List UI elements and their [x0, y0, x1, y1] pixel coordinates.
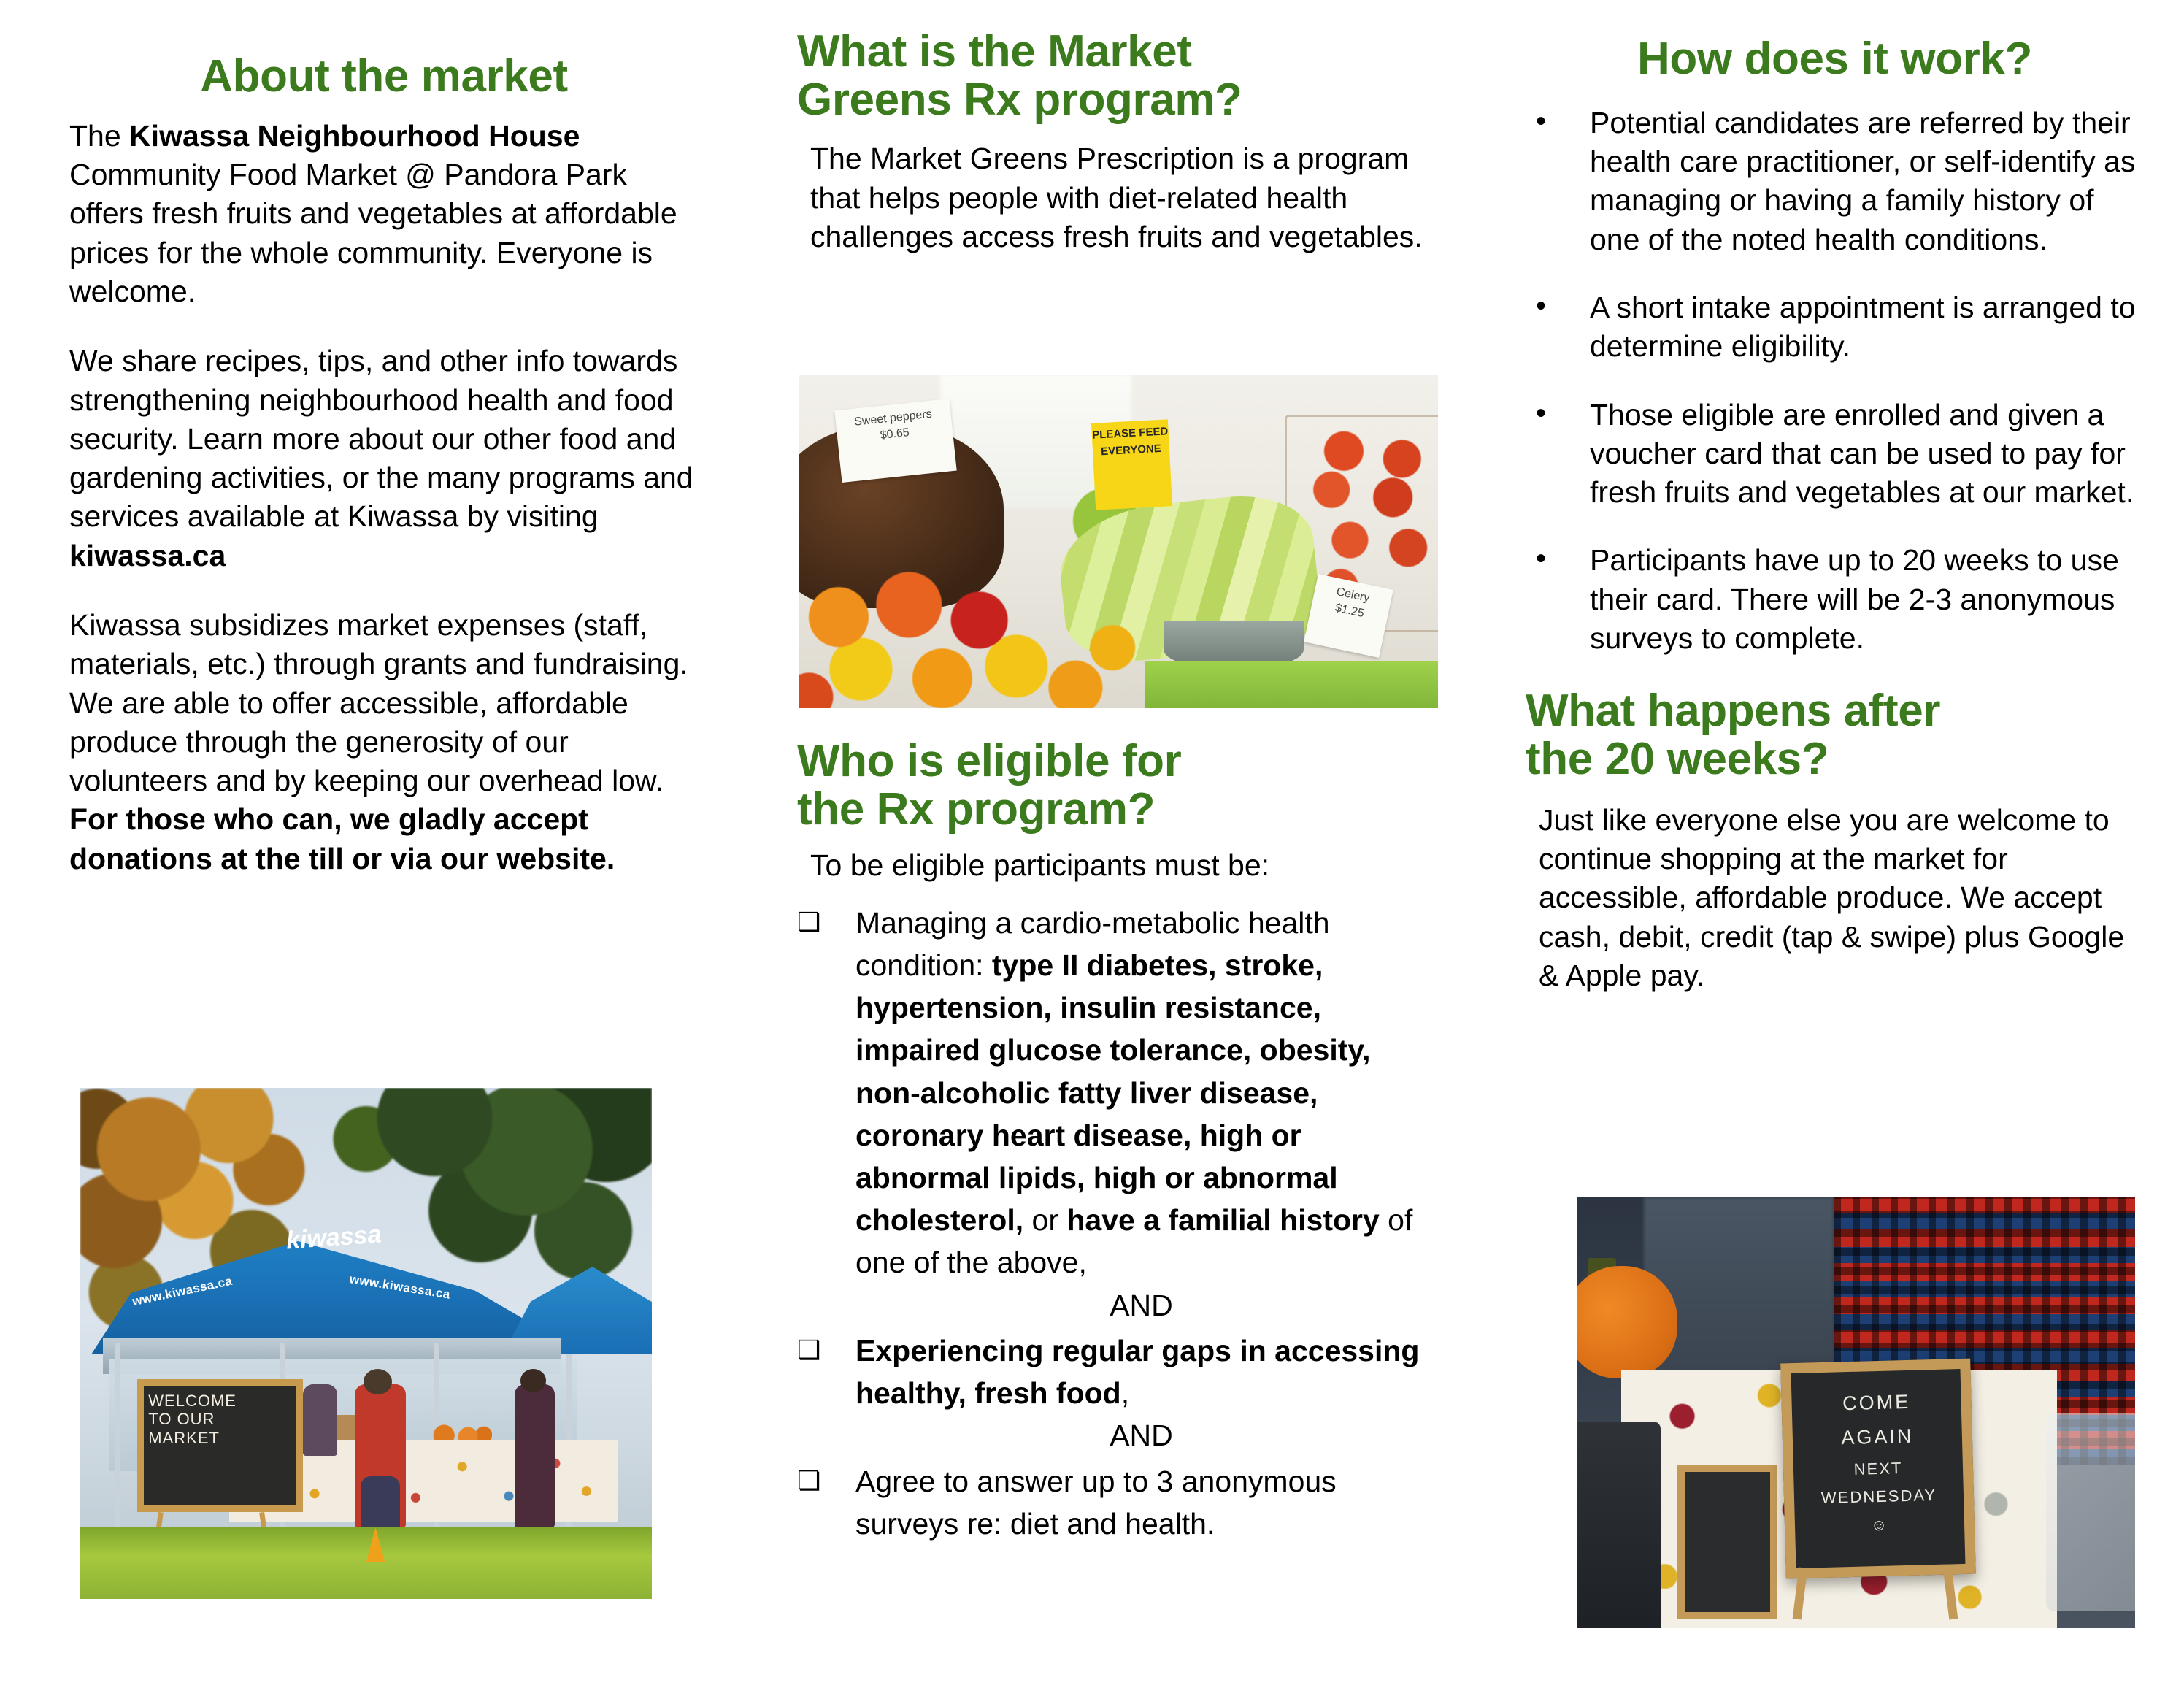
eligibility-item-1-text-b: or: [1023, 1203, 1066, 1237]
section-title-what-is-market-greens: What is the Market Greens Rx program?: [797, 28, 1427, 123]
eligibility-item: ❏ Agree to answer up to 3 anonymous surv…: [797, 1460, 1427, 1545]
eligibility-connector-and: AND: [855, 1284, 1427, 1327]
price-sign-peppers-label: Sweet peppers: [853, 408, 932, 429]
bullet-icon: •: [1536, 540, 1546, 578]
about-paragraph-1-prefix: The: [69, 119, 129, 153]
eligibility-item-3-text: Agree to answer up to 3 anonymous survey…: [855, 1465, 1337, 1541]
after-heading-line-1: What happens after: [1526, 686, 1940, 736]
chalkboard-easel-legs: [1789, 1568, 1968, 1619]
how-it-works-step-text: Potential candidates are referred by the…: [1590, 106, 2136, 256]
welcome-chalkboard-sign: WELCOME TO OUR MARKET: [137, 1379, 303, 1512]
after-paragraph: Just like everyone else you are welcome …: [1539, 801, 2144, 995]
how-it-works-step-text: Those eligible are enrolled and given a …: [1590, 398, 2134, 510]
eligibility-connector-and: AND: [855, 1414, 1427, 1457]
eligibility-item-2-comma: ,: [1121, 1376, 1129, 1410]
price-sign-sweet-peppers: Sweet peppers $0.65: [834, 399, 956, 483]
come-again-line-1: COME: [1791, 1384, 1961, 1422]
yellow-sign-line-3: EVERYONE: [1100, 442, 1161, 457]
eligible-heading-line-2: the Rx program?: [797, 784, 1155, 835]
photo-come-again-sign: COME AGAIN NEXT WEDNESDAY ☺: [1577, 1197, 2135, 1628]
checkbox-icon[interactable]: ❏: [797, 1331, 820, 1368]
section-title-how-does-it-work: How does it work?: [1526, 35, 2144, 83]
yellow-sign-line-1: PLEASE: [1091, 427, 1136, 442]
welcome-chalkboard-line-3: MARKET: [148, 1429, 292, 1447]
after-heading-line-2: the 20 weeks?: [1526, 734, 1829, 784]
greens-foreground: [1145, 661, 1439, 708]
shopper-puffy-jacket: [1577, 1422, 1661, 1628]
eligibility-item-1-familial: have a familial history: [1066, 1203, 1379, 1237]
secondary-chalkboard: [1677, 1465, 1778, 1619]
about-paragraph-1-rest: Community Food Market @ Pandora Park off…: [69, 158, 677, 308]
eligibility-item: ❏ Experiencing regular gaps in accessing…: [797, 1330, 1427, 1457]
what-is-heading-line-1: What is the Market: [797, 26, 1192, 77]
about-paragraph-3: Kiwassa subsidizes market expenses (staf…: [69, 606, 699, 878]
kiwassa-logo-text: kiwassa: [285, 1220, 382, 1255]
come-again-chalkboard: COME AGAIN NEXT WEDNESDAY ☺: [1780, 1359, 1976, 1579]
bell-peppers-pile: [799, 568, 1157, 708]
about-paragraph-3-text: Kiwassa subsidizes market expenses (staf…: [69, 608, 688, 797]
shopper-head: [364, 1369, 392, 1394]
yellow-sign-line-2: FEED: [1138, 425, 1168, 439]
donations-callout: For those who can, we gladly accept dona…: [69, 802, 615, 875]
price-sign-celery-price: $1.25: [1334, 602, 1366, 620]
how-it-works-step: • Participants have up to 20 weeks to us…: [1526, 541, 2144, 658]
shopper-head: [520, 1369, 546, 1392]
smiley-face-icon: ☺: [1795, 1509, 1965, 1542]
photo-produce-display: PLEASE FEED EVERYONE Sweet peppers $0.65…: [799, 375, 1438, 708]
checkbox-icon[interactable]: ❏: [797, 903, 820, 940]
how-it-works-step: • A short intake appointment is arranged…: [1526, 288, 2144, 367]
section-title-who-is-eligible: Who is eligible for the Rx program?: [797, 737, 1427, 833]
yellow-feed-sign: PLEASE FEED EVERYONE: [1091, 419, 1172, 510]
page-title-about-the-market: About the market: [69, 53, 699, 101]
about-paragraph-1-org-name: Kiwassa Neighbourhood House: [129, 119, 580, 153]
eligible-heading-line-1: Who is eligible for: [797, 736, 1181, 786]
pumpkin: [1577, 1266, 1677, 1378]
what-is-heading-line-2: Greens Rx program?: [797, 74, 1242, 125]
eligibility-item: ❏ Managing a cardio-metabolic health con…: [797, 902, 1427, 1327]
welcome-chalkboard-line-2: TO OUR: [148, 1410, 292, 1428]
shopper-dark-coat: [515, 1384, 555, 1527]
checkbox-icon[interactable]: ❏: [797, 1462, 820, 1499]
how-it-works-step-text: Participants have up to 20 weeks to use …: [1590, 543, 2119, 655]
photo-market-tent: kiwassa www.kiwassa.ca www.kiwassa.ca WE…: [80, 1088, 652, 1599]
what-is-paragraph: The Market Greens Prescription is a prog…: [810, 139, 1427, 256]
come-again-line-3: NEXT: [1793, 1453, 1964, 1486]
bullet-icon: •: [1536, 394, 1546, 432]
come-again-line-4: WEDNESDAY: [1794, 1481, 1964, 1514]
tent-leg: [115, 1343, 120, 1548]
bullet-icon: •: [1536, 102, 1546, 140]
bullet-icon: •: [1536, 287, 1546, 325]
volunteer-behind-table: [303, 1384, 337, 1456]
eligibility-item-2-text: Experiencing regular gaps in accessing h…: [855, 1334, 1419, 1410]
about-paragraph-1: The Kiwassa Neighbourhood House Communit…: [69, 117, 699, 311]
about-paragraph-2: We share recipes, tips, and other info t…: [69, 342, 699, 575]
eligibility-item-1-conditions: type II diabetes, stroke, hypertension, …: [855, 948, 1371, 1237]
how-it-works-steps: • Potential candidates are referred by t…: [1526, 104, 2144, 659]
brochure-page: About the market The Kiwassa Neighbourho…: [0, 0, 2184, 1688]
about-paragraph-2-text: We share recipes, tips, and other info t…: [69, 344, 693, 533]
grass-foreground: [80, 1527, 652, 1599]
eligibility-checklist: ❏ Managing a cardio-metabolic health con…: [797, 902, 1427, 1545]
column-eligibility: Who is eligible for the Rx program? To b…: [728, 737, 1456, 1688]
welcome-chalkboard-line-1: WELCOME: [148, 1392, 292, 1410]
come-again-line-2: AGAIN: [1792, 1418, 1962, 1457]
section-title-what-happens-after: What happens after the 20 weeks?: [1526, 687, 2144, 783]
eligibility-intro: To be eligible participants must be:: [810, 846, 1427, 885]
how-it-works-step-text: A short intake appointment is arranged t…: [1590, 291, 2136, 363]
kiwassa-website-link[interactable]: kiwassa.ca: [69, 539, 226, 572]
price-sign-peppers-price: $0.65: [879, 426, 910, 442]
how-it-works-step: • Potential candidates are referred by t…: [1526, 104, 2144, 259]
how-it-works-step: • Those eligible are enrolled and given …: [1526, 396, 2144, 513]
plastic-produce-bag: [2046, 1413, 2135, 1611]
